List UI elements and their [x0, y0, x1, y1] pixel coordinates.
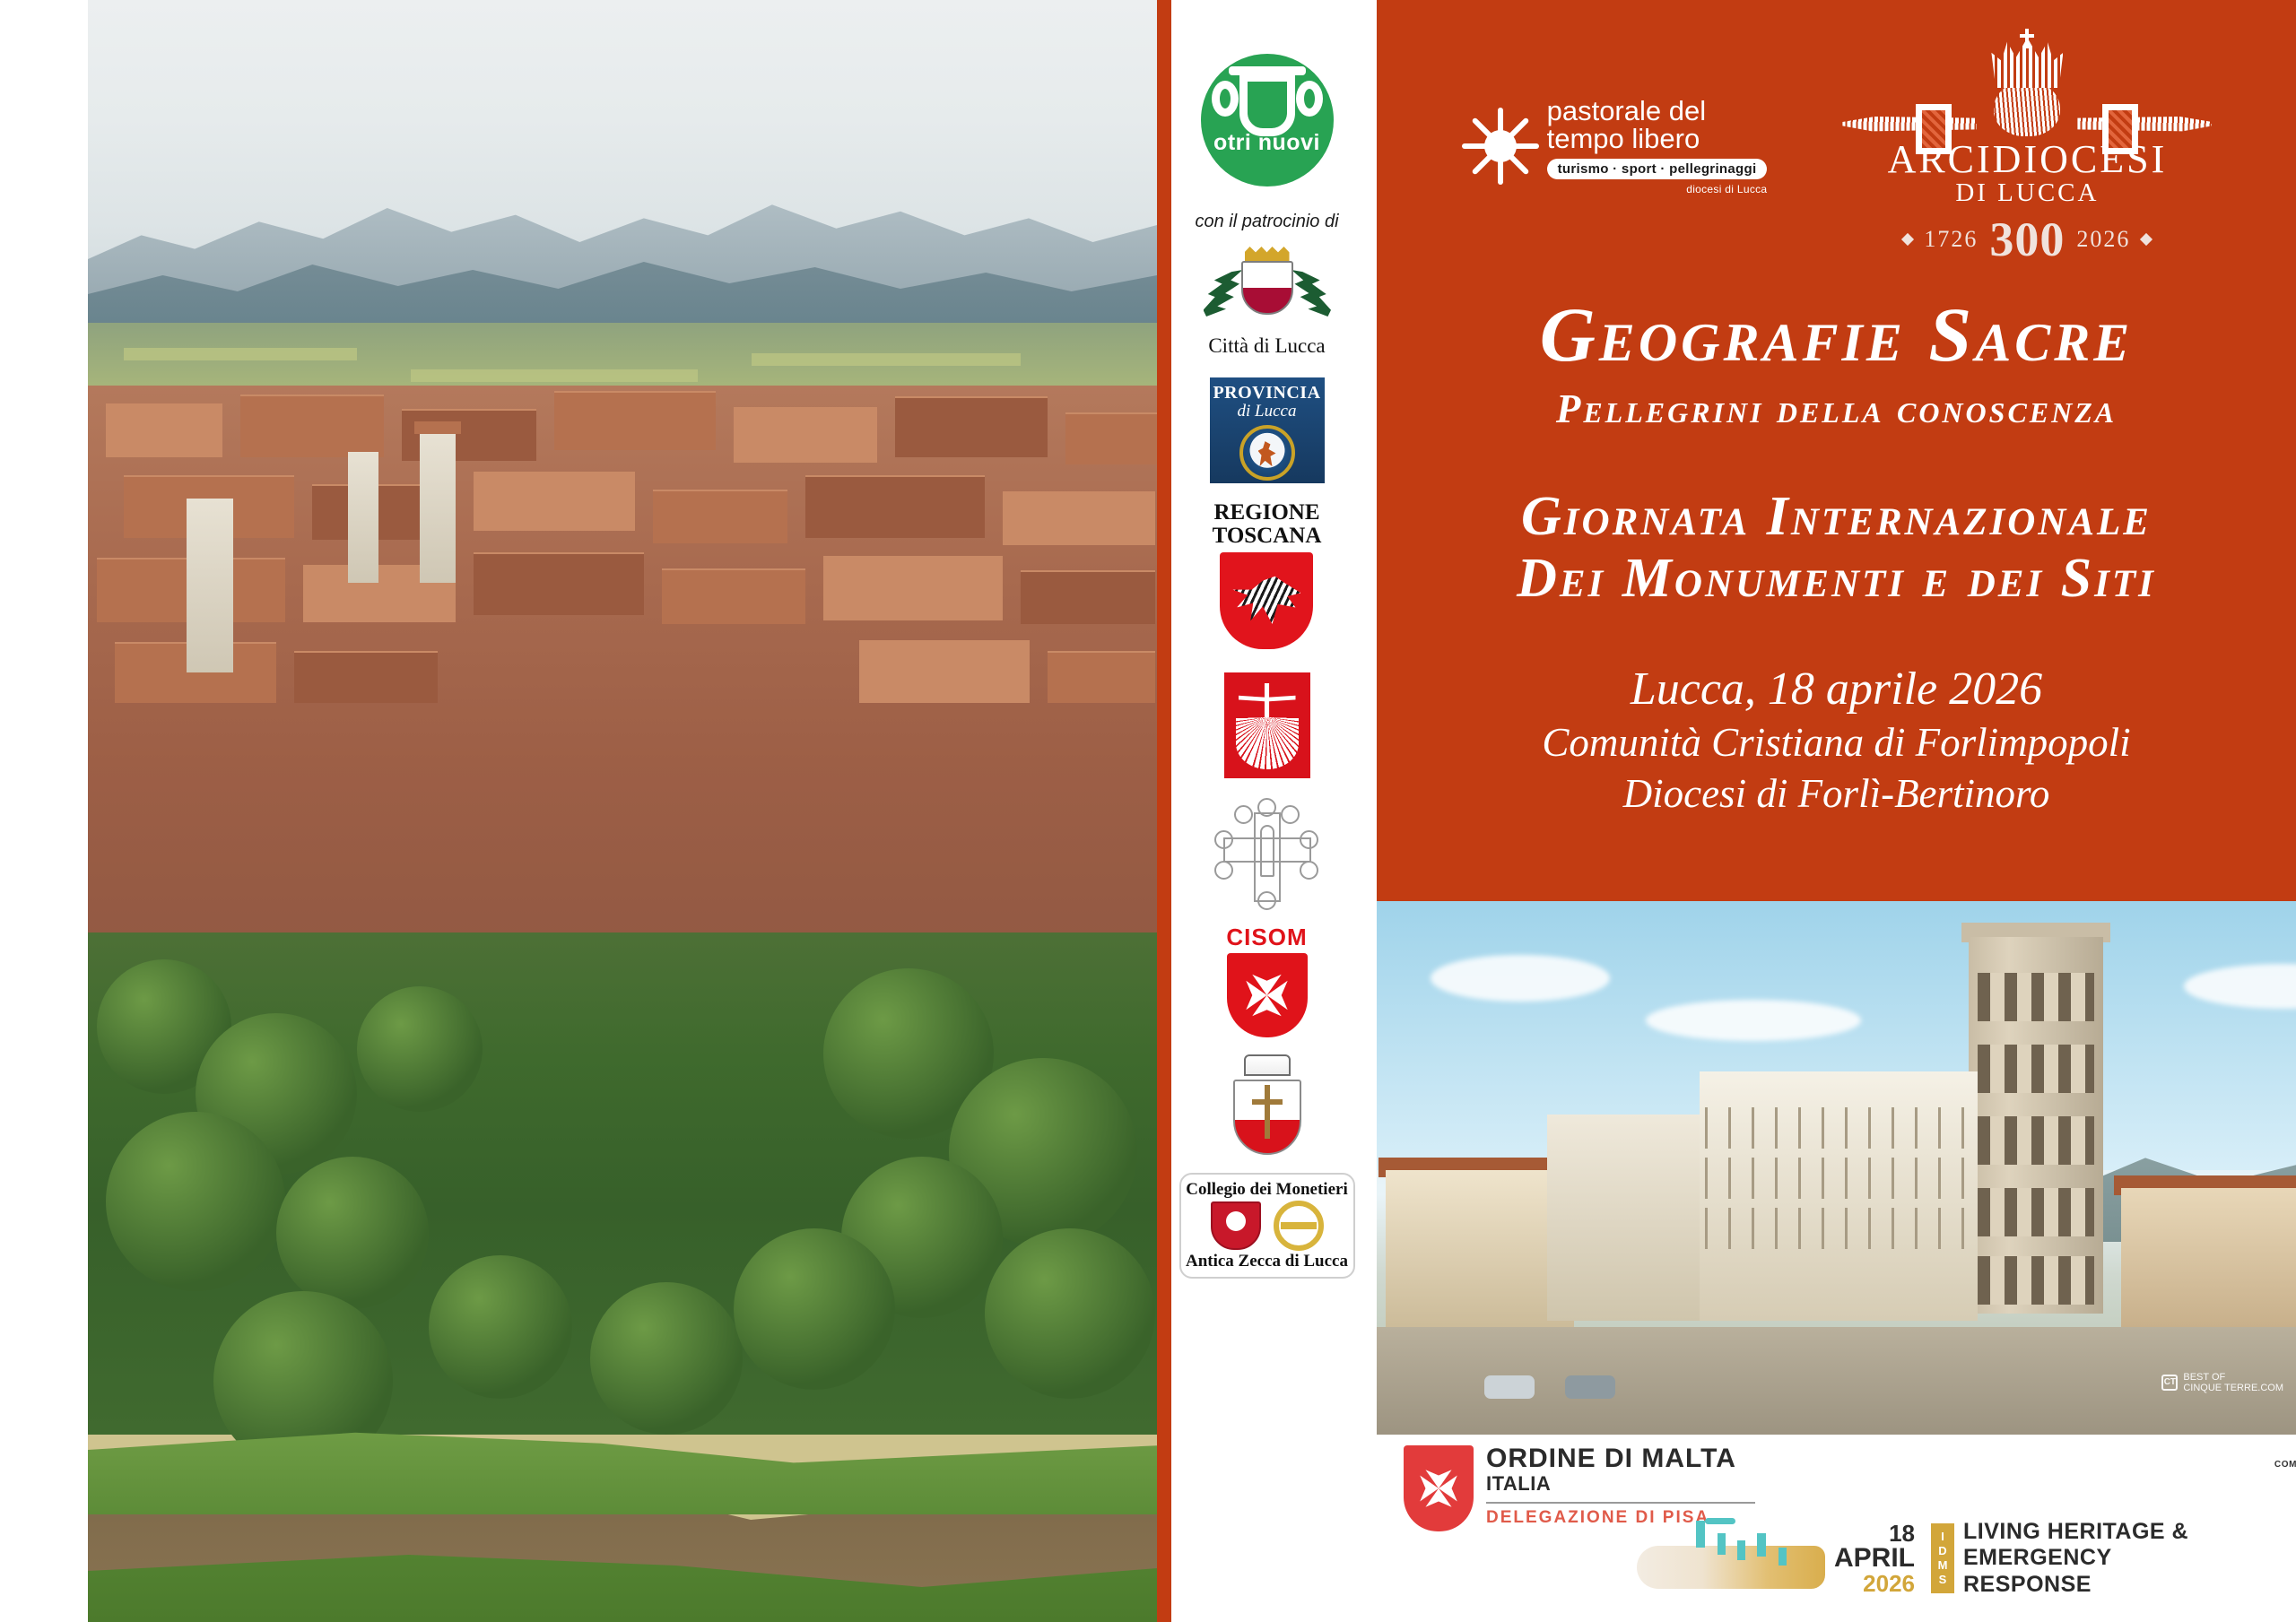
crucifix-arms: [1252, 1099, 1283, 1105]
diamond-icon: [1901, 233, 1914, 246]
pastorale-text: pastorale del tempo libero turismo · spo…: [1547, 97, 1768, 195]
idms-banner: 18 APRIL 2026 IDMS LIVING HERITAGE & EME…: [1637, 1515, 2188, 1601]
idms-month: APRIL: [1834, 1545, 1915, 1572]
provincia-label-bottom: di Lucca: [1238, 402, 1297, 421]
idms-slogan: LIVING HERITAGE & EMERGENCY RESPONSE: [1963, 1519, 2188, 1599]
citta-di-lucca-label: Città di Lucca: [1208, 334, 1325, 358]
left-photo-panel: [0, 0, 1157, 1622]
crowned-crest-icon: [1218, 1054, 1317, 1162]
pastorale-line1-light: del: [1661, 95, 1706, 126]
parked-car: [1565, 1375, 1615, 1399]
cisom-logo: CISOM: [1213, 924, 1321, 1042]
otri-nuovi-logo: otri nuovi: [1201, 54, 1334, 186]
photo-watermark: CT BEST OF CINQUE TERRE.COM: [2161, 1372, 2283, 1393]
park-and-trees: [88, 932, 1157, 1435]
idms-year: 2026: [1834, 1572, 1915, 1595]
laurel-left-icon: [1204, 270, 1243, 317]
otri-nuovi-label: otri nuovi: [1201, 130, 1334, 156]
cross-terminal: [1257, 891, 1276, 910]
monetieri-card: Collegio dei Monetieri Antica Zecca di L…: [1179, 1173, 1355, 1279]
bell-tower: [1969, 937, 2103, 1314]
cisom-label: CISOM: [1226, 924, 1307, 951]
arcidiocesi-di-lucca-logo: ARCIDIOCESI DI LUCCA 1726 300 2026: [1848, 32, 2206, 267]
maltese-cross-icon: [1415, 1465, 1462, 1512]
toscana-shield-icon: [1220, 552, 1313, 649]
crucifix-icon: [1265, 1085, 1270, 1139]
arcidiocesi-sub: DI LUCCA: [1848, 179, 2206, 208]
provincia-di-lucca-logo: PROVINCIA di Lucca: [1210, 377, 1325, 483]
regione-label-top: REGIONE: [1213, 501, 1319, 525]
san-frediano-tower: [420, 430, 456, 583]
idms-vertical-label: IDMS: [1931, 1523, 1954, 1593]
watermark-badge-icon: CT: [2161, 1375, 2178, 1391]
pastorale-diocese: diocesi di Lucca: [1547, 183, 1768, 195]
citta-di-lucca-logo: Città di Lucca: [1200, 247, 1335, 358]
shell-emblem-icon: [1224, 672, 1310, 778]
left-building: [1386, 1170, 1574, 1340]
pastorale-tempo-libero-logo: pastorale del tempo libero turismo · spo…: [1466, 97, 1768, 195]
poster-titles: Geografie Sacre Pellegrini della conosce…: [1377, 296, 2296, 820]
vase-lip-icon: [1229, 66, 1306, 75]
arcidiocesi-name: ARCIDIOCESI: [1848, 140, 2206, 179]
red-divider: [1157, 0, 1171, 1622]
laurel-right-icon: [1291, 270, 1331, 317]
provincia-label-top: PROVINCIA: [1213, 383, 1320, 403]
provincia-emblem-icon: [1239, 425, 1295, 481]
gold-coin-icon: [1274, 1201, 1324, 1251]
watermark-line1: BEST OF: [2183, 1372, 2283, 1383]
vase-handle-right-icon: [1296, 81, 1323, 117]
provincia-plaque: PROVINCIA di Lucca: [1210, 377, 1325, 483]
scallop-shell-icon: [1236, 717, 1299, 769]
christ-figure-icon: [1260, 825, 1274, 877]
divider: [1486, 1502, 1755, 1504]
crest-crown-icon: [1244, 1054, 1291, 1076]
idms-slogan-line1: LIVING HERITAGE &: [1963, 1519, 2188, 1546]
right-building: [2121, 1188, 2296, 1345]
clock-tower: [348, 448, 378, 583]
malta-line2: ITALIA: [1486, 1472, 1755, 1496]
cross-terminal: [1281, 805, 1300, 824]
patrocinio-label: con il patrocinio di: [1195, 212, 1338, 232]
idms-day: 18: [1834, 1522, 1915, 1545]
monetieri-label-top: Collegio dei Monetieri: [1186, 1180, 1347, 1200]
malta-shield-icon: [1404, 1445, 1474, 1531]
idms-slogan-line2: EMERGENCY: [1963, 1545, 2188, 1572]
cross-terminal: [1214, 830, 1233, 849]
right-panel: pastorale del tempo libero turismo · spo…: [1377, 0, 2296, 1622]
pastorale-line2-light: libero: [1624, 123, 1700, 154]
lucca-crest-icon: [1200, 247, 1335, 333]
cross-icon: [2025, 29, 2029, 48]
cathedral-facade: [1700, 1071, 1978, 1321]
vase-handle-left-icon: [1212, 81, 1239, 117]
parked-car: [1484, 1375, 1535, 1399]
footer-logos: ORDINE DI MALTA ITALIA DELEGAZIONE DI PI…: [1377, 1435, 2296, 1622]
anniversary-number: 300: [1989, 212, 2065, 267]
banner-right-icon: [2102, 104, 2138, 154]
volto-santo-cross-icon: [1214, 798, 1320, 911]
organizer-line-2: Diocesi di Forlì-Bertinoro: [1377, 768, 2296, 820]
organizer-line-1: Comunità Cristiana di Forlimpopoli: [1377, 717, 2296, 768]
arm-right-icon: [2077, 115, 2212, 133]
volto-santo-figure-icon: [1848, 32, 2206, 138]
cathedral-photo: CT BEST OF CINQUE TERRE.COM: [1377, 901, 2296, 1435]
event-line-2: Dei Monumenti e dei Siti: [1377, 548, 2296, 610]
pastorale-line2-bold: tempo: [1547, 123, 1624, 154]
shield-icon: [1241, 261, 1293, 315]
hand-icon: [1637, 1546, 1825, 1589]
diamond-icon: [2140, 233, 2152, 246]
sponsor-sidebar: otri nuovi con il patrocinio di Città di…: [1157, 0, 1377, 1622]
hand-with-figures-icon: [1637, 1515, 1834, 1601]
santiago-shell-logo: [1224, 672, 1310, 778]
year-to: 2026: [2076, 226, 2130, 253]
malta-line1: ORDINE DI MALTA: [1486, 1445, 1755, 1472]
idms-date: 18 APRIL 2026: [1834, 1522, 1922, 1595]
monetieri-emblems: [1211, 1201, 1324, 1251]
event-place-date: Lucca, 18 aprile 2026: [1377, 661, 2296, 717]
year-from: 1726: [1924, 226, 1978, 253]
monetieri-label-bottom: Antica Zecca di Lucca: [1186, 1252, 1348, 1271]
old-town-rooftops: [88, 386, 1157, 1013]
banner-left-icon: [1916, 104, 1952, 154]
cross-terminal: [1234, 805, 1253, 824]
pegasus-icon: [1232, 573, 1300, 629]
regione-toscana-logo: REGIONE TOSCANA: [1213, 501, 1322, 649]
monetieri-shield-icon: [1211, 1201, 1261, 1250]
cisom-block: CISOM: [1213, 924, 1321, 1042]
cross-terminal: [1257, 798, 1276, 817]
collegio-monetieri-logo: Collegio dei Monetieri Antica Zecca di L…: [1179, 1173, 1355, 1279]
lion-icon: [1258, 441, 1276, 466]
crown-icon: [1245, 247, 1290, 261]
event-line-1: Giornata Internazionale: [1377, 486, 2296, 548]
crowned-crest-logo: [1218, 1054, 1317, 1162]
poster-root: otri nuovi con il patrocinio di Città di…: [0, 0, 2296, 1622]
pastorale-line1-bold: pastorale: [1547, 95, 1662, 126]
page-title: Geografie Sacre: [1377, 296, 2296, 373]
cross-terminal: [1300, 830, 1318, 849]
cross-terminal: [1300, 861, 1318, 880]
maltese-cross-icon: [1241, 969, 1293, 1021]
comunita-cristiana-forlimpopoli-logo: COMUNITÀ CRISTIANA FORLIMPOPOLI: [2283, 1445, 2296, 1611]
sun-icon: [1466, 112, 1535, 180]
regione-label-bottom: TOSCANA: [1213, 525, 1322, 548]
arm-left-icon: [1842, 115, 1977, 133]
header-logos: pastorale del tempo libero turismo · spo…: [1377, 32, 2296, 212]
page-subtitle: Pellegrini della conoscenza: [1377, 386, 2296, 432]
guinigi-tower: [187, 493, 233, 672]
lucca-aerial-photo: [88, 0, 1157, 1622]
holy-face-icon: [1994, 81, 2060, 136]
anniversary-row: 1726 300 2026: [1848, 212, 2206, 267]
comunita-ring-text: COMUNITÀ CRISTIANA FORLIMPOPOLI: [2274, 1460, 2296, 1470]
watermark-line2: CINQUE TERRE.COM: [2183, 1383, 2283, 1393]
cisom-shield-icon: [1227, 953, 1308, 1037]
pastorale-pill: turismo · sport · pellegrinaggi: [1547, 159, 1768, 179]
volto-santo-logo: [1214, 798, 1320, 911]
idms-slogan-line3: RESPONSE: [1963, 1572, 2188, 1599]
vase-icon: [1239, 74, 1295, 136]
cross-terminal: [1214, 861, 1233, 880]
